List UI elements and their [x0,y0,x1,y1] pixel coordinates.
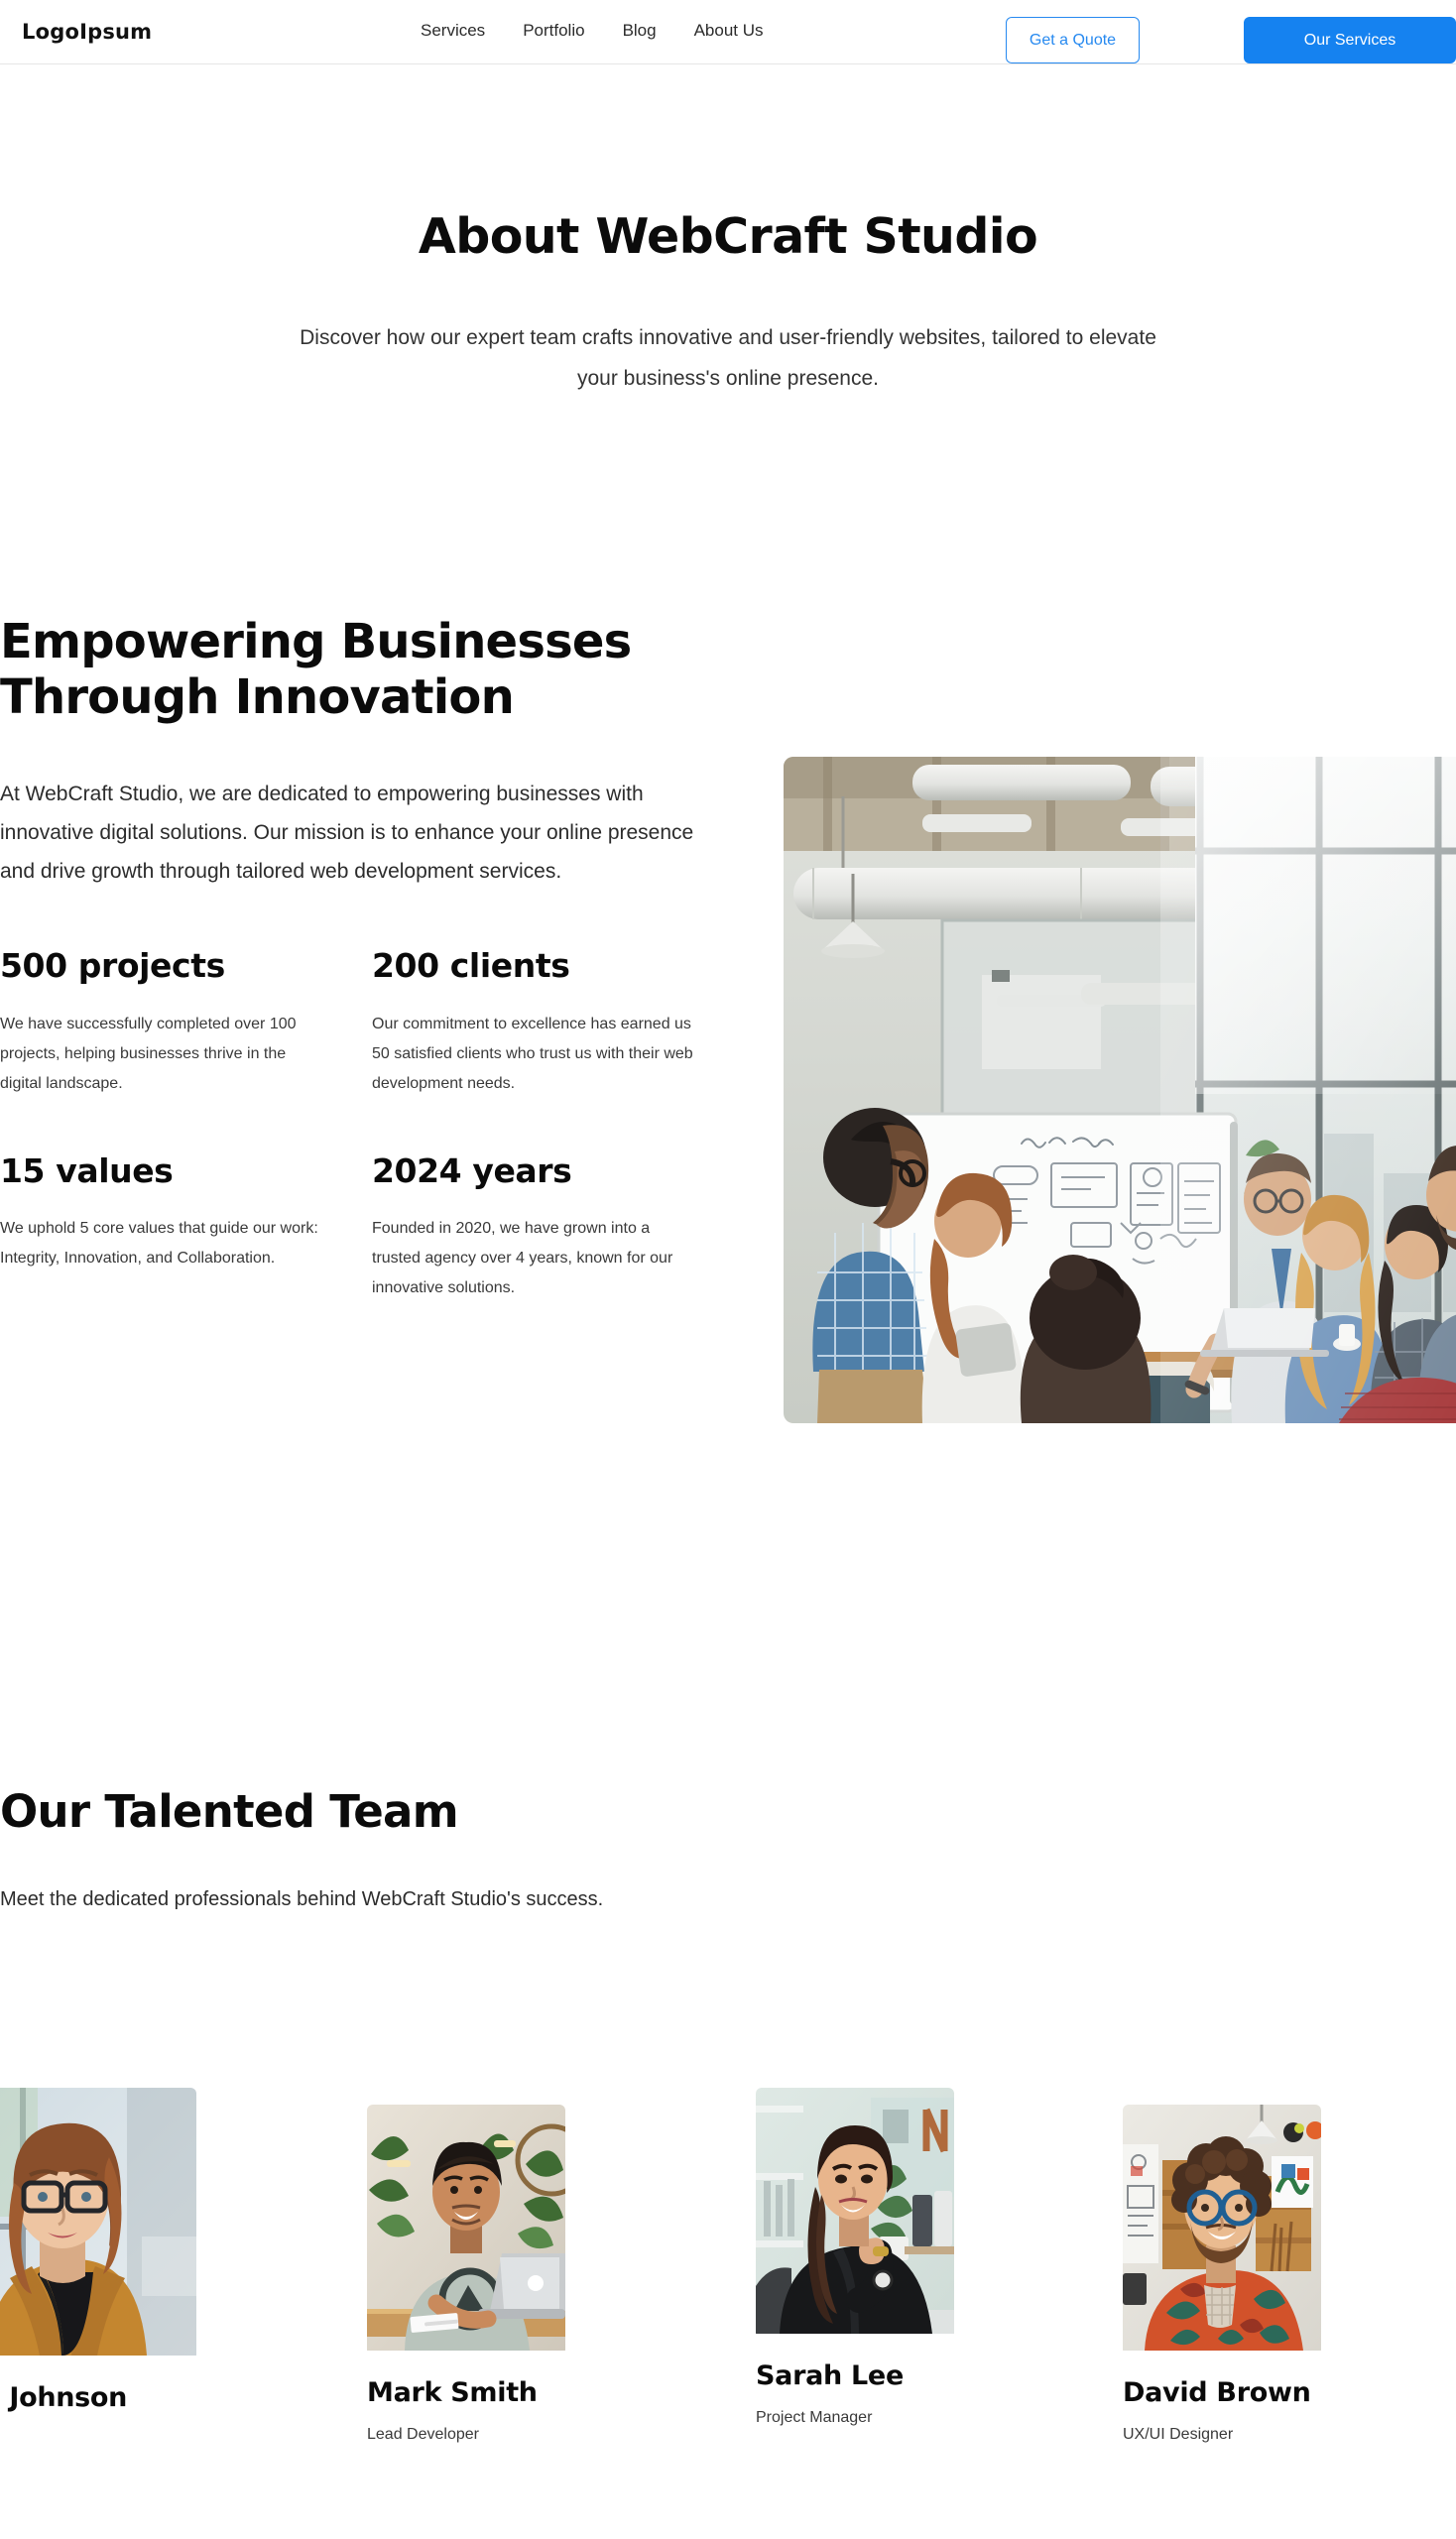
stats-grid: 500 projects We have successfully comple… [0,948,724,1303]
nav-item-about-us[interactable]: About Us [694,21,764,41]
team-heading: Our Talented Team [0,1785,458,1838]
team-member-card[interactable]: David Brown UX/UI Designer [1123,2105,1321,2444]
nav-item-services[interactable]: Services [421,21,485,41]
team-subtitle: Meet the dedicated professionals behind … [0,1880,635,1919]
team-member-photo [0,2088,196,2360]
get-a-quote-button[interactable]: Get a Quote [1006,17,1140,63]
about-office-photo [784,757,1456,1423]
team-member-card[interactable]: Mark Smith Lead Developer [367,2105,565,2444]
team-member-name: Mark Smith [367,2377,565,2408]
about-paragraph: At WebCraft Studio, we are dedicated to … [0,775,720,891]
stat-description: Our commitment to excellence has earned … [372,1010,699,1099]
page-title: About WebCraft Studio [0,208,1456,265]
site-logo[interactable]: LogoIpsum [22,20,152,44]
our-services-button[interactable]: Our Services [1244,17,1456,63]
site-header: LogoIpsum Services Portfolio Blog About … [0,0,1456,64]
stat-number: 15 values [0,1153,372,1189]
stat-description: Founded in 2020, we have grown into a tr… [372,1214,699,1303]
stat-number: 500 projects [0,948,372,984]
team-member-photo [1123,2105,1321,2356]
team-member-card[interactable]: Sarah Lee Project Manager [756,2088,954,2427]
stat-item: 500 projects We have successfully comple… [0,948,372,1098]
nav-item-blog[interactable]: Blog [623,21,657,41]
stat-description: We have successfully completed over 100 … [0,1010,327,1099]
stat-number: 200 clients [372,948,724,984]
nav-item-portfolio[interactable]: Portfolio [523,21,584,41]
team-member-photo [367,2105,565,2356]
page-subtitle: Discover how our expert team crafts inno… [282,317,1174,399]
team-member-name: Alice Johnson [0,2382,196,2413]
main-navigation: Services Portfolio Blog About Us [421,21,764,41]
team-member-name: David Brown [1123,2377,1321,2408]
stat-item: 2024 years Founded in 2020, we have grow… [372,1153,724,1303]
team-member-photo [756,2088,954,2339]
about-text-column: Empowering Businesses Through Innovation… [0,615,724,1303]
stat-item: 15 values We uphold 5 core values that g… [0,1153,372,1303]
team-member-role: Lead Developer [367,2426,565,2444]
team-member-role: CEO [0,2431,196,2449]
stat-number: 2024 years [372,1153,724,1189]
about-heading: Empowering Businesses Through Innovation [0,615,655,725]
team-member-role: UX/UI Designer [1123,2426,1321,2444]
stat-description: We uphold 5 core values that guide our w… [0,1214,327,1273]
team-member-name: Sarah Lee [756,2360,954,2391]
stat-item: 200 clients Our commitment to excellence… [372,948,724,1098]
team-member-role: Project Manager [756,2409,954,2427]
team-member-card[interactable]: Alice Johnson CEO [0,2088,196,2449]
